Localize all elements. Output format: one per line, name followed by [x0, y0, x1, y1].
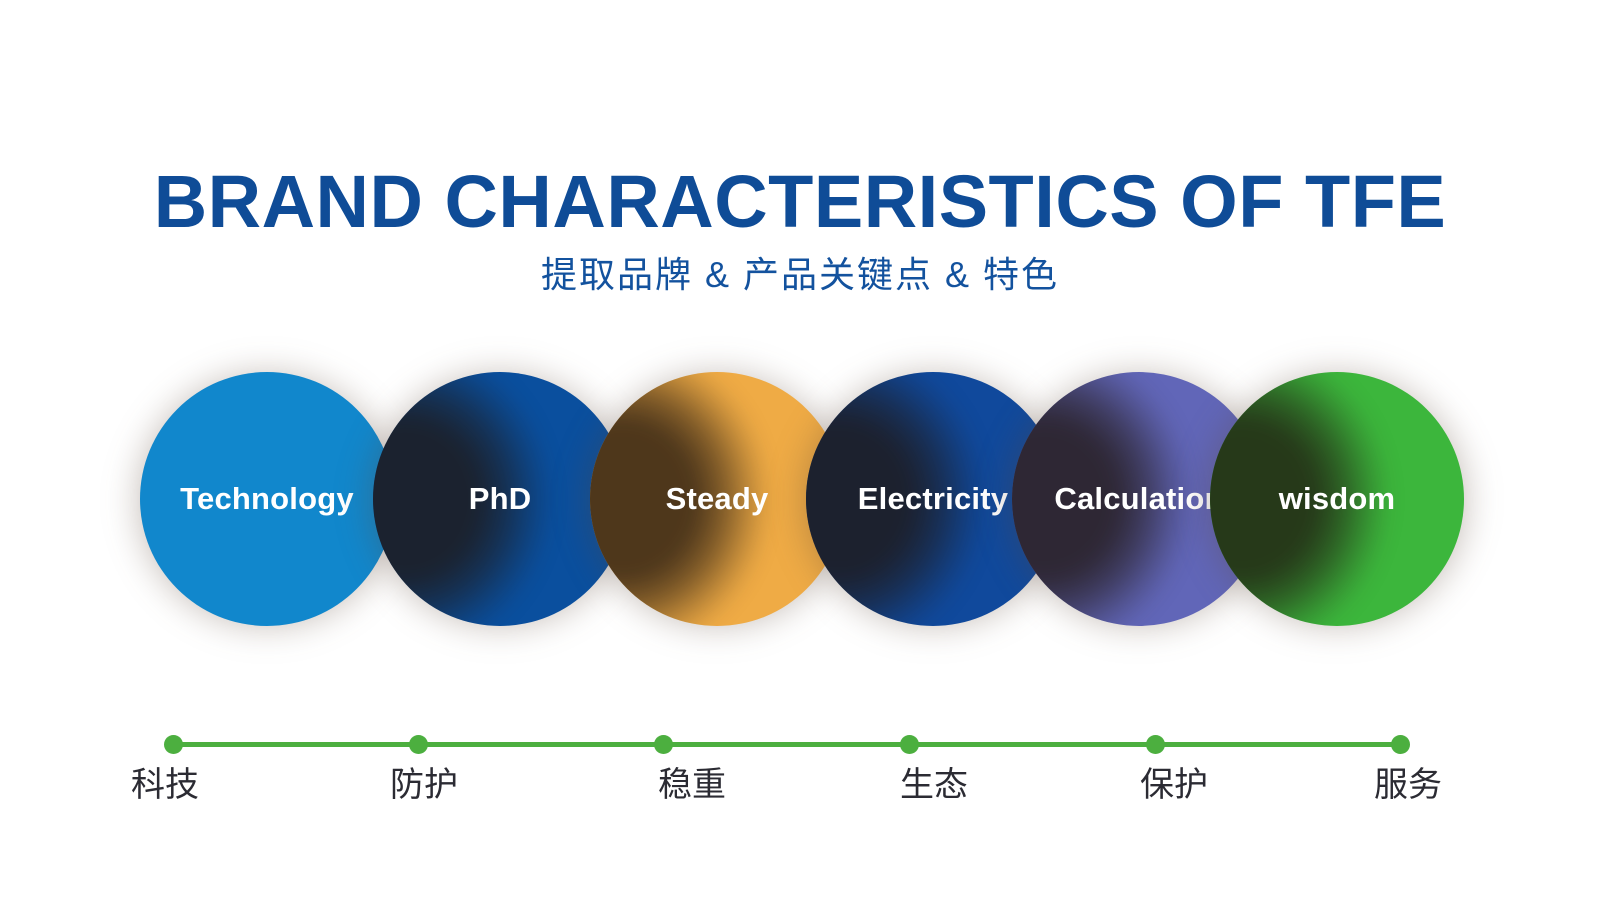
timeline-label: 稳重 [658, 762, 726, 808]
timeline-label: 生态 [900, 762, 968, 808]
bubble-label: Technology [180, 481, 354, 517]
timeline-node[interactable] [654, 735, 673, 754]
bubble-label: PhD [469, 481, 532, 517]
timeline-label: 服务 [1374, 762, 1442, 808]
timeline-node[interactable] [164, 735, 183, 754]
page-subtitle: 提取品牌 & 产品关键点 & 特色 [0, 250, 1600, 300]
bubble-wisdom[interactable]: wisdom [1210, 372, 1464, 626]
timeline-label: 保护 [1140, 762, 1208, 808]
timeline: 科技 防护 稳重 生态 保护 服务 [0, 700, 1600, 860]
timeline-label: 科技 [131, 762, 199, 808]
timeline-node[interactable] [1391, 735, 1410, 754]
heading-block: BRAND CHARACTERISTICS OF TFE 提取品牌 & 产品关键… [0, 160, 1600, 300]
timeline-node[interactable] [1146, 735, 1165, 754]
timeline-node[interactable] [409, 735, 428, 754]
page-title: BRAND CHARACTERISTICS OF TFE [0, 160, 1600, 244]
bubble-label: Steady [666, 481, 769, 517]
slide-canvas: BRAND CHARACTERISTICS OF TFE 提取品牌 & 产品关键… [0, 0, 1600, 897]
bubble-row: Technology PhD Steady Electricity [0, 372, 1600, 672]
timeline-node[interactable] [900, 735, 919, 754]
bubble-label: wisdom [1279, 481, 1396, 517]
timeline-axis [173, 742, 1401, 747]
timeline-label: 防护 [390, 762, 458, 808]
